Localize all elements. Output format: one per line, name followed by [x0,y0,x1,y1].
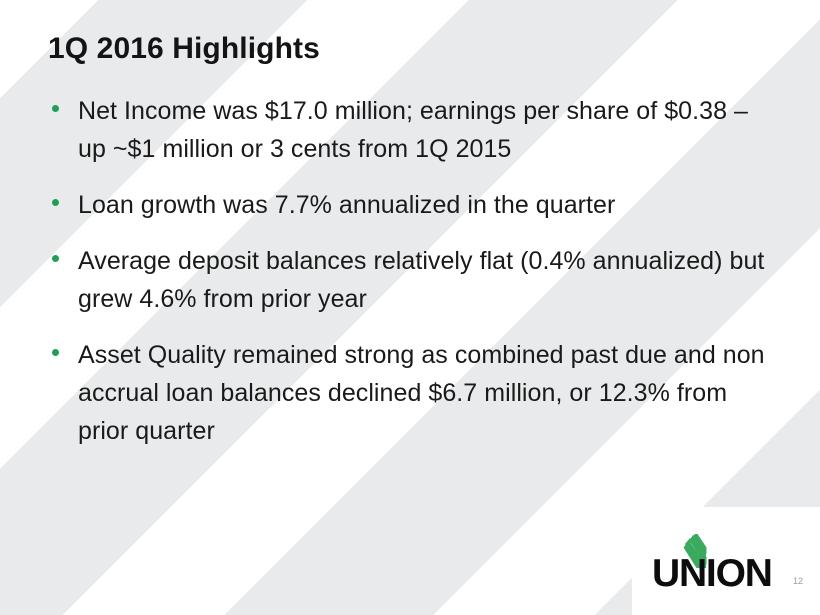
list-item-text: Net Income was $17.0 million; earnings p… [78,92,774,168]
page-number: 12 [793,576,803,586]
list-item: Net Income was $17.0 million; earnings p… [46,92,774,168]
presentation-slide: 1Q 2016 Highlights Net Income was $17.0 … [0,0,820,615]
bullet-marker [46,336,78,356]
list-item: Loan growth was 7.7% annualized in the q… [46,186,774,224]
bullet-marker [46,92,78,112]
bullet-dot-icon [52,349,59,356]
bullet-dot-icon [52,105,59,112]
bullet-dot-icon [52,199,59,206]
logo-wordmark: UNION [652,554,772,593]
list-item: Average deposit balances relatively flat… [46,242,774,318]
page-title: 1Q 2016 Highlights [48,32,320,66]
bullet-dot-icon [52,255,59,262]
list-item-text: Asset Quality remained strong as combine… [78,336,774,450]
list-item-text: Average deposit balances relatively flat… [78,242,774,318]
union-logo: UNION [652,534,782,592]
bullet-marker [46,186,78,206]
bullet-marker [46,242,78,262]
list-item-text: Loan growth was 7.7% annualized in the q… [78,186,774,224]
bullet-list: Net Income was $17.0 million; earnings p… [46,92,774,468]
list-item: Asset Quality remained strong as combine… [46,336,774,450]
